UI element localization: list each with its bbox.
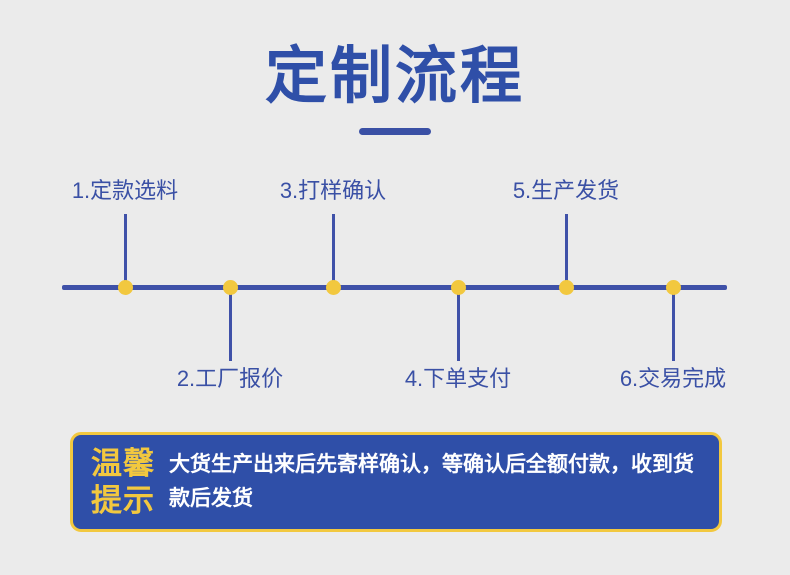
title-block: 定制流程 <box>0 40 790 135</box>
page-title: 定制流程 <box>0 40 790 114</box>
timeline-node-3-label: 3.打样确认 <box>280 178 386 204</box>
timeline-node-4-label: 4.下单支付 <box>405 366 511 392</box>
notice-tag: 温馨 提示 <box>91 445 169 519</box>
timeline-axis-line <box>62 285 727 290</box>
timeline-node-6-stem <box>672 288 675 361</box>
notice-tag-line1: 温馨 <box>91 445 155 482</box>
timeline-node-3-dot <box>326 280 341 295</box>
notice-tag-line2: 提示 <box>91 482 155 519</box>
notice-body-text: 大货生产出来后先寄样确认，等确认后全额付款，收到货款后发货 <box>169 448 705 516</box>
timeline-node-5-stem <box>565 214 568 288</box>
timeline-node-2-label: 2.工厂报价 <box>177 366 283 392</box>
timeline-node-3-stem <box>332 214 335 288</box>
timeline-node-6-dot <box>666 280 681 295</box>
timeline-node-5-dot <box>559 280 574 295</box>
timeline-node-5-label: 5.生产发货 <box>513 178 619 204</box>
title-accent-bar <box>359 128 431 135</box>
timeline-node-2-stem <box>229 288 232 361</box>
timeline-node-1-dot <box>118 280 133 295</box>
timeline-node-6-label: 6.交易完成 <box>620 366 726 392</box>
timeline-node-1-label: 1.定款选料 <box>72 178 178 204</box>
timeline-node-4-stem <box>457 288 460 361</box>
notice-box: 温馨 提示 大货生产出来后先寄样确认，等确认后全额付款，收到货款后发货 <box>70 432 722 532</box>
timeline-node-4-dot <box>451 280 466 295</box>
timeline-node-1-stem <box>124 214 127 288</box>
timeline-node-2-dot <box>223 280 238 295</box>
promo-graphic-root: 定制流程 1.定款选料 2.工厂报价 3.打样确认 4.下单支付 <box>0 0 790 575</box>
